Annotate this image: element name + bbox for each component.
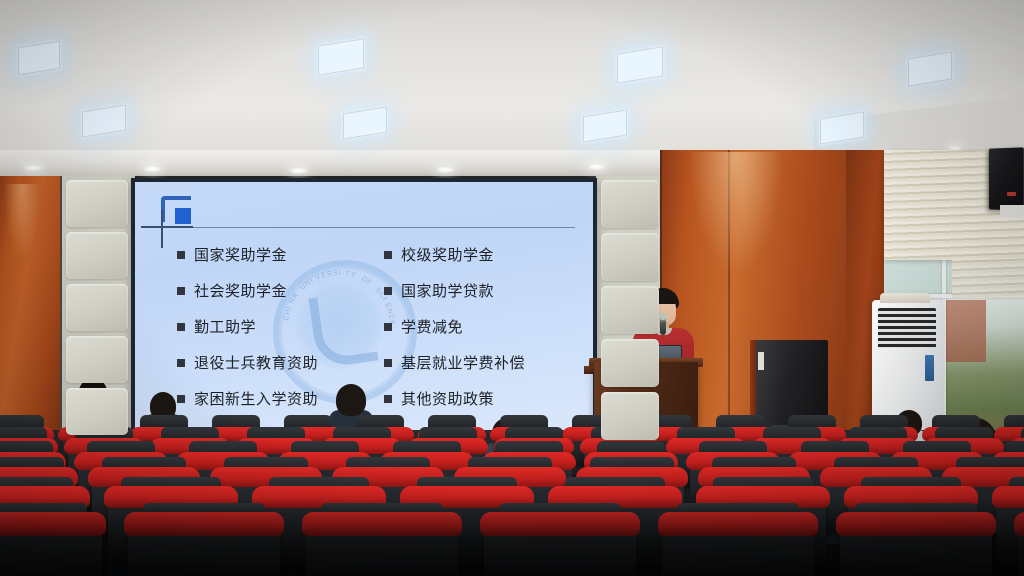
acoustic-wall-tile (601, 180, 659, 228)
auditorium-seat[interactable] (306, 520, 458, 576)
auditorium-seat[interactable] (1018, 520, 1024, 576)
seat-red-trim (658, 512, 818, 536)
seating-group (0, 0, 1024, 576)
acoustic-wall-tile (66, 232, 128, 279)
seat-red-trim (1014, 512, 1024, 536)
lecture-hall-photo: CHINA UNIVERSITY OF SCIENCE 国家奖助学金校级奖助学金… (0, 0, 1024, 576)
seat-red-trim (836, 512, 996, 536)
acoustic-wall-tile (601, 339, 659, 387)
auditorium-seat[interactable] (0, 520, 102, 576)
acoustic-wall-tile (66, 336, 128, 383)
acoustic-wall-tile (601, 233, 659, 281)
acoustic-wall-tile (66, 284, 128, 331)
auditorium-seat[interactable] (128, 520, 280, 576)
acoustic-wall-tile (601, 392, 659, 440)
auditorium-seat[interactable] (840, 520, 992, 576)
acoustic-wall-tile (66, 388, 128, 435)
seat-red-trim (124, 512, 284, 536)
seat-red-trim (992, 486, 1024, 508)
acoustic-wall-tile (66, 180, 128, 227)
seat-red-trim (480, 512, 640, 536)
seat-red-trim (302, 512, 462, 536)
seat-red-trim (0, 512, 106, 536)
auditorium-seat[interactable] (484, 520, 636, 576)
acoustic-wall-tile (601, 286, 659, 334)
auditorium-seat[interactable] (662, 520, 814, 576)
